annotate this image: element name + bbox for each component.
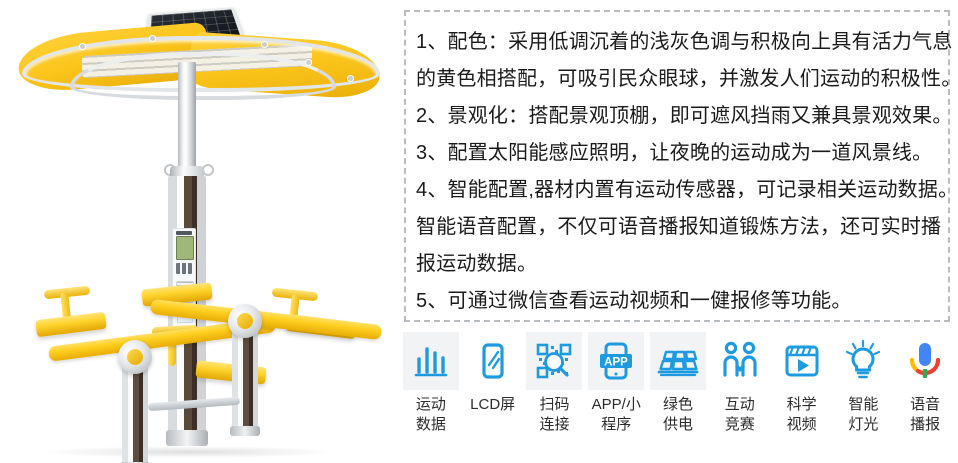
ground-shadow xyxy=(40,446,340,458)
feature-label: APP/小 程序 xyxy=(592,395,641,435)
pivot-joint xyxy=(228,304,262,338)
feature-label: 科学 视频 xyxy=(787,395,817,435)
panel-header-strip xyxy=(176,231,192,235)
feature-label: 语音 播报 xyxy=(910,395,940,435)
leg-cap xyxy=(230,426,260,436)
pivot-joint xyxy=(118,340,152,374)
qr-scan-icon xyxy=(526,332,582,390)
page-root: 1、配色：采用低调沉着的浅灰色调与积极向上具有活力气息 的黄色相搭配，可吸引民众… xyxy=(0,0,958,463)
lightbulb-icon xyxy=(835,332,891,390)
mast-upper xyxy=(178,62,196,172)
feature-text-line: 5、可通过微信查看运动视频和一健报修等功能。 xyxy=(416,283,940,320)
features-description-card: 1、配色：采用低调沉着的浅灰色调与积极向上具有活力气息 的黄色相搭配，可吸引民众… xyxy=(404,10,950,322)
feature-item-voice-broadcast[interactable]: 语音 播报 xyxy=(894,332,956,460)
feature-item-app-miniprogram[interactable]: APP APP/小 程序 xyxy=(585,332,647,460)
feature-text-line: 2、景观化：搭配景观顶棚，即可遮风挡雨又兼具景观效果。 xyxy=(416,98,940,135)
solar-panel-icon xyxy=(650,332,706,390)
feature-text-line: 4、智能配置,器材内置有运动传感器，可记录相关运动数据。 xyxy=(416,172,940,209)
canopy-bolt xyxy=(80,44,85,49)
feature-label: 智能 灯光 xyxy=(848,395,878,435)
feature-item-smart-lighting[interactable]: 智能 灯光 xyxy=(832,332,894,460)
feature-label: 绿色 供电 xyxy=(663,395,693,435)
control-panel[interactable] xyxy=(172,228,196,338)
product-image xyxy=(0,0,395,463)
feature-label: LCD屏 xyxy=(470,395,515,415)
feature-label: 互动 竞赛 xyxy=(725,395,755,435)
feature-icon-row: 运动 数据 LCD屏 xyxy=(400,332,956,460)
mast-base xyxy=(166,430,208,446)
canopy-bolt xyxy=(306,60,311,65)
video-play-icon xyxy=(774,332,830,390)
lcd-display xyxy=(176,236,194,260)
feature-label: 运动 数据 xyxy=(416,395,446,435)
feature-text-line: 的黄色相搭配，可吸引民众眼球，并激发人们运动的积极性。 xyxy=(416,61,940,98)
feature-item-science-video[interactable]: 科学 视频 xyxy=(771,332,833,460)
bar-chart-icon xyxy=(403,332,459,390)
canopy-bolt xyxy=(262,42,267,47)
feature-label: 扫码 连接 xyxy=(539,395,569,435)
canopy-bolt xyxy=(150,36,155,41)
feature-item-qr-scan[interactable]: 扫码 连接 xyxy=(524,332,586,460)
panel-buttons[interactable] xyxy=(176,263,192,274)
app-phone-icon: APP xyxy=(588,332,644,390)
canopy-bolt xyxy=(348,76,353,81)
feature-text-line: 智能语音配置，不仅可语音播报知道锻炼方法，还可实时播 xyxy=(416,209,940,246)
svg-text:APP: APP xyxy=(604,356,628,368)
canopy-roof xyxy=(18,30,378,96)
two-people-icon xyxy=(712,332,768,390)
feature-text-line: 3、配置太阳能感应照明，让夜晚的运动成为一道风景线。 xyxy=(416,135,940,172)
feature-text-line: 1、配色：采用低调沉着的浅灰色调与积极向上具有活力气息 xyxy=(416,24,940,61)
microphone-icon xyxy=(897,332,953,390)
feature-item-lcd-screen[interactable]: LCD屏 xyxy=(462,332,524,460)
feature-item-sport-data[interactable]: 运动 数据 xyxy=(400,332,462,460)
feature-text-line: 报运动数据。 xyxy=(416,246,940,283)
feature-item-green-power[interactable]: 绿色 供电 xyxy=(647,332,709,460)
lcd-screen-icon xyxy=(465,332,521,390)
foot-plate xyxy=(35,312,107,337)
feature-item-interactive-contest[interactable]: 互动 竞赛 xyxy=(709,332,771,460)
